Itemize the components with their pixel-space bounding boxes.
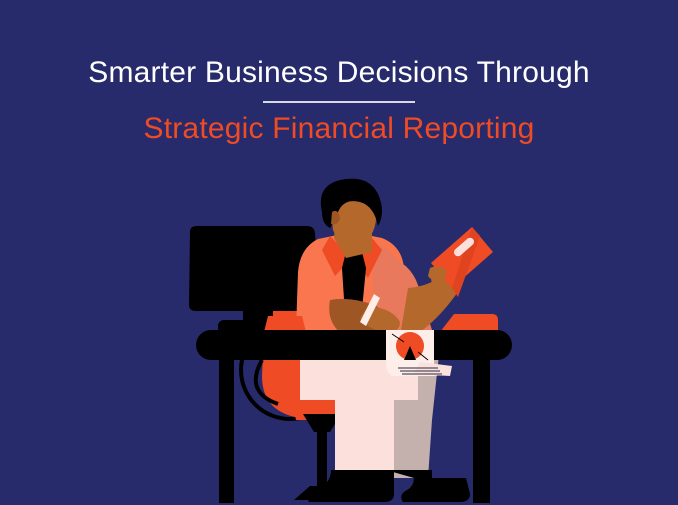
desk-top-surface bbox=[196, 330, 512, 360]
desk bbox=[196, 330, 512, 360]
keyboard-left bbox=[264, 316, 306, 332]
heading-block: Smarter Business Decisions Through Strat… bbox=[0, 0, 678, 146]
desk-leg-left bbox=[219, 345, 234, 503]
thumb-right bbox=[428, 266, 446, 281]
page-title-primary: Smarter Business Decisions Through bbox=[0, 56, 678, 90]
poster-canvas: Smarter Business Decisions Through Strat… bbox=[0, 0, 678, 505]
page-title-secondary: Strategic Financial Reporting bbox=[0, 112, 678, 146]
desk-leg-right bbox=[473, 345, 490, 503]
title-divider bbox=[263, 101, 415, 103]
